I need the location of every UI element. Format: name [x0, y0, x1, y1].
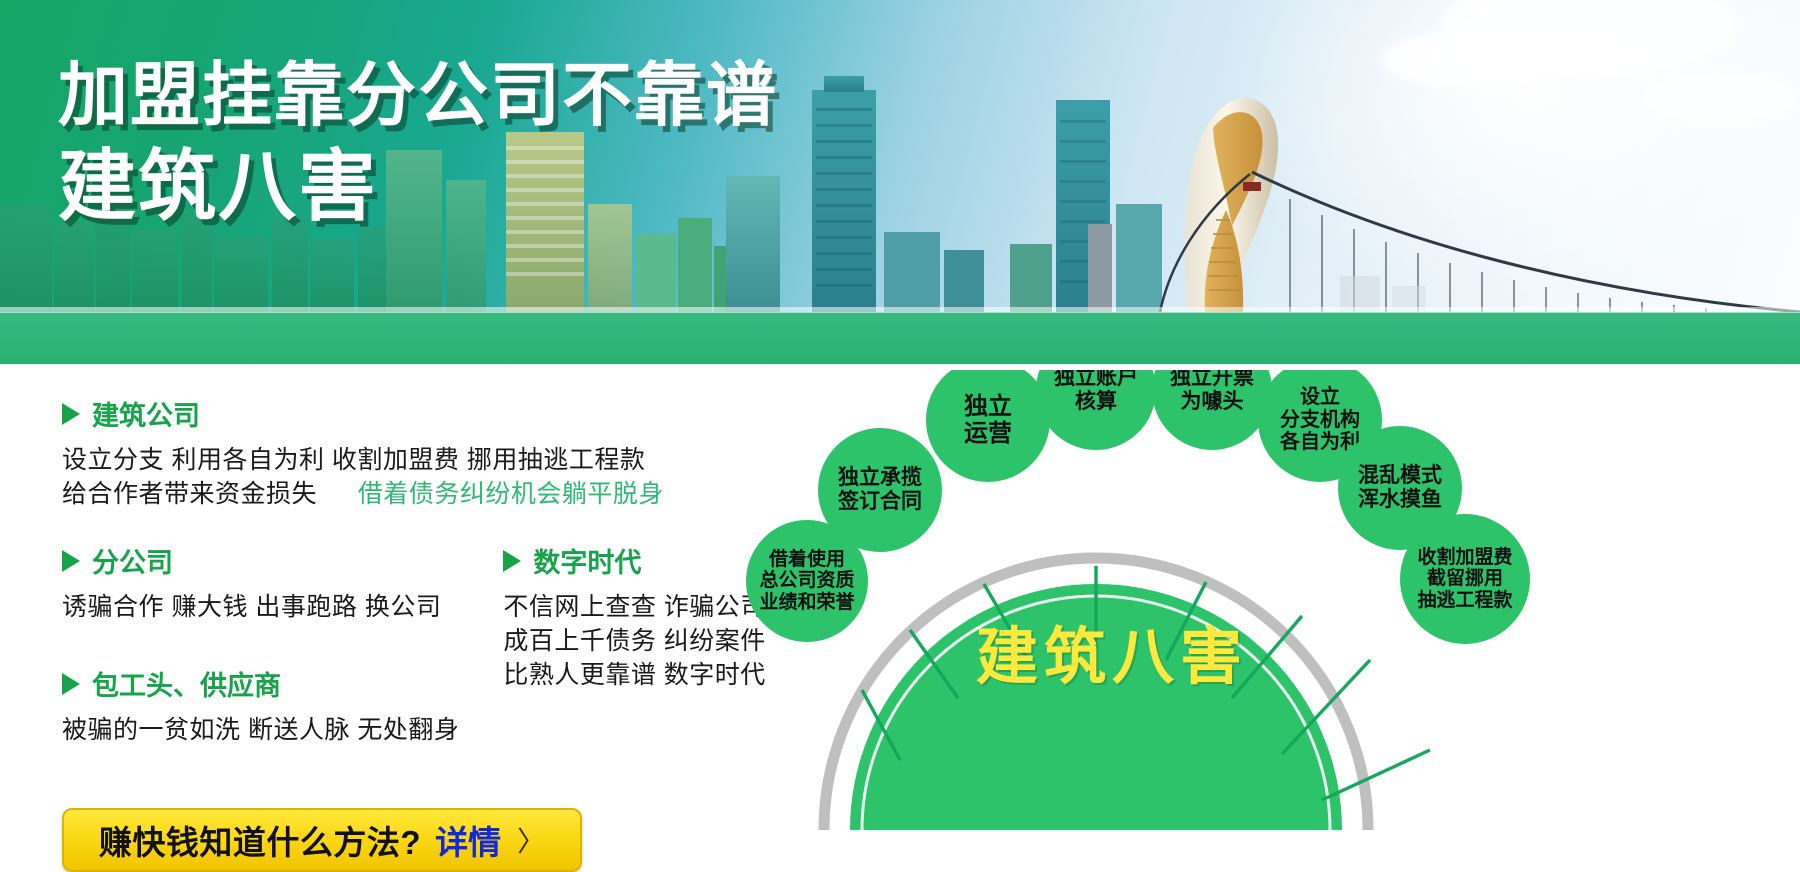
section-title: 建筑公司	[92, 394, 200, 433]
bubble-line: 混乱模式	[1354, 464, 1446, 488]
hero-divider	[0, 364, 1800, 370]
bubble-line: 运营	[960, 420, 1016, 447]
dome-center-label: 建筑八害	[976, 606, 1248, 696]
bubble-harvest-franchise-fees[interactable]: 收割加盟费 截留挪用 抽逃工程款	[1400, 514, 1530, 644]
bubble-line: 签订合同	[834, 490, 926, 514]
cta-question-label: 赚快钱知道什么方法?	[99, 816, 421, 864]
bridge-pylon	[1185, 98, 1278, 312]
triangle-bullet-icon	[62, 673, 80, 695]
bubble-line: 总公司资质	[755, 570, 858, 592]
section-line-highlight: 借着债务纠纷机会躺平脱身	[358, 480, 664, 508]
section-line: 比熟人更靠谱 数字时代	[503, 658, 820, 692]
bubble-independent-operation[interactable]: 独立 运营	[926, 358, 1050, 482]
hero-banner: 加盟挂靠分公司不靠谱 建筑八害	[0, 0, 1800, 370]
section-title: 包工头、供应商	[92, 664, 281, 703]
hero-headline: 加盟挂靠分公司不靠谱 建筑八害	[58, 52, 778, 234]
headline-line-2: 建筑八害	[58, 138, 778, 234]
section-line: 诱骗合作 赚大钱 出事跑路 换公司	[62, 590, 503, 624]
bubble-independent-contracting[interactable]: 独立承揽 签订合同	[818, 428, 942, 552]
section-construction-company: 建筑公司 设立分支 利用各自为利 收割加盟费 挪用抽逃工程款 给合作者带来资金损…	[62, 394, 820, 511]
cta-link-label[interactable]: 详情	[435, 816, 501, 864]
chevron-right-icon: 〉	[517, 820, 545, 860]
eight-harms-diagram: 建筑八害 借着使用 总公司资质 业绩和荣誉 独立承揽 签订合同 独立 运营 独立…	[790, 330, 1800, 844]
section-heading: 包工头、供应商	[62, 664, 503, 703]
bubble-line: 核算	[1050, 390, 1142, 414]
bubble-line: 业绩和荣誉	[755, 592, 858, 614]
section-title: 数字时代	[533, 541, 641, 580]
left-content-panel: 建筑公司 设立分支 利用各自为利 收割加盟费 挪用抽逃工程款 给合作者带来资金损…	[0, 372, 820, 844]
section-line: 设立分支 利用各自为利 收割加盟费 挪用抽逃工程款	[62, 443, 820, 477]
bubble-line: 分支机构	[1276, 409, 1364, 432]
section-title: 分公司	[92, 541, 173, 580]
bubble-line: 收割加盟费	[1413, 547, 1516, 569]
headline-line-1: 加盟挂靠分公司不靠谱	[58, 52, 778, 138]
section-line-text: 给合作者带来资金损失	[62, 480, 317, 508]
section-heading: 分公司	[62, 541, 503, 580]
section-line-text: 设立分支 利用各自为利 收割加盟费 挪用抽逃工程款	[62, 446, 645, 474]
bubble-line: 独立	[960, 393, 1016, 420]
section-contractor-supplier: 包工头、供应商 被骗的一贫如洗 断送人脉 无处翻身	[62, 664, 503, 747]
section-heading: 建筑公司	[62, 394, 820, 433]
triangle-bullet-icon	[62, 403, 80, 425]
bubble-line: 为噱头	[1166, 390, 1258, 414]
bubble-line: 独立承揽	[834, 466, 926, 490]
cta-button[interactable]: 赚快钱知道什么方法? 详情 〉	[62, 808, 582, 872]
triangle-bullet-icon	[62, 550, 80, 572]
bubble-line: 浑水摸鱼	[1354, 488, 1446, 512]
triangle-bullet-icon	[503, 550, 521, 572]
section-branch-company: 分公司 诱骗合作 赚大钱 出事跑路 换公司	[62, 541, 503, 624]
bubble-line: 截留挪用	[1413, 568, 1516, 590]
bubble-line: 借着使用	[755, 549, 858, 571]
section-line: 给合作者带来资金损失 借着债务纠纷机会躺平脱身	[62, 477, 820, 511]
bubble-line: 设立	[1276, 386, 1364, 409]
bubble-line: 抽逃工程款	[1413, 590, 1516, 612]
hero-green-strip	[0, 312, 1800, 370]
section-line: 被骗的一贫如洗 断送人脉 无处翻身	[62, 713, 503, 747]
